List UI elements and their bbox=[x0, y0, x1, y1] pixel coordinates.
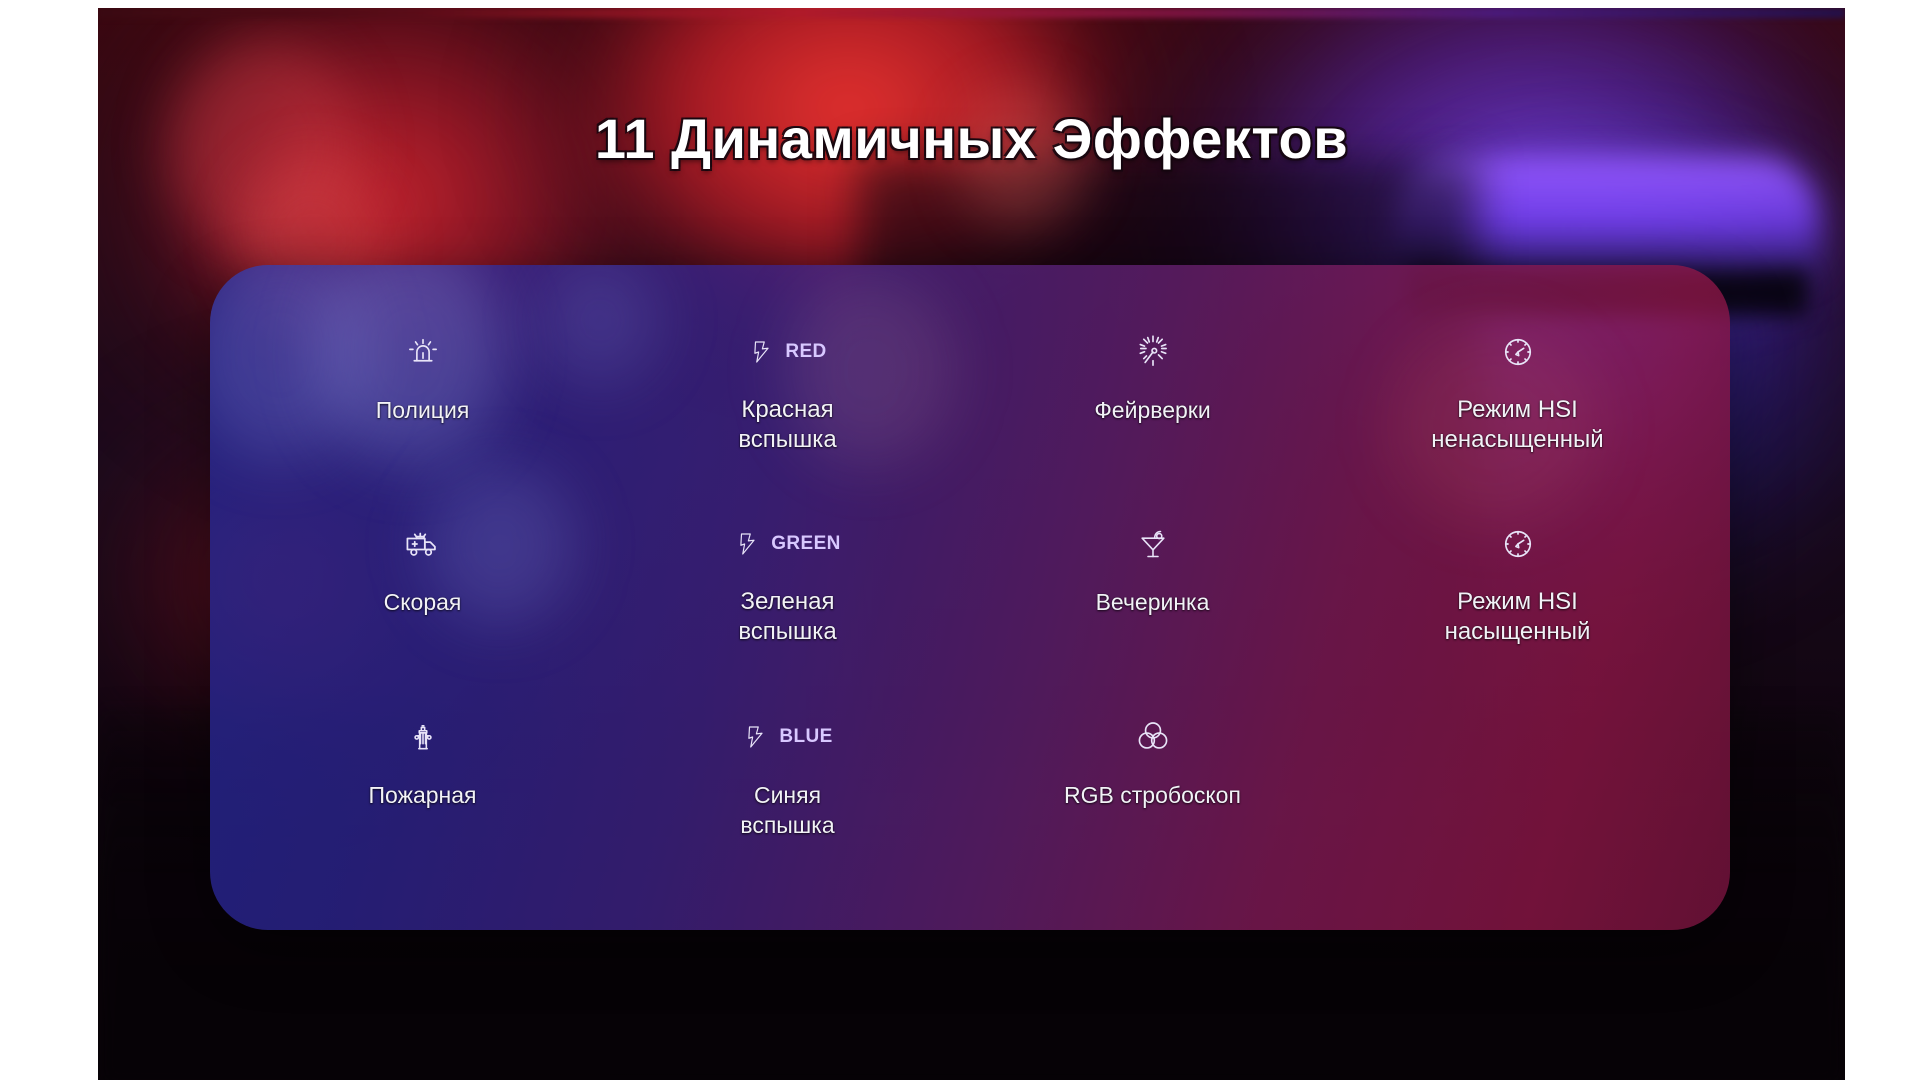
effect-label: Вечеринка bbox=[1096, 587, 1210, 617]
effect-label: Режим HSI насыщенный bbox=[1445, 587, 1591, 647]
effect-item-hsi-unsat[interactable]: Режим HSI ненасыщенный bbox=[1335, 307, 1700, 499]
effect-label: Полиция bbox=[376, 395, 470, 425]
rgb-circles-icon bbox=[1122, 706, 1184, 768]
cocktail-glass-icon bbox=[1122, 513, 1184, 575]
effect-label: Скорая bbox=[384, 587, 462, 617]
flash-color-word: RED bbox=[785, 341, 826, 363]
flash-color-word: GREEN bbox=[771, 533, 841, 555]
background-police-lightbar bbox=[1398, 158, 1818, 278]
ambulance-icon bbox=[392, 513, 454, 575]
effect-item-red-flash[interactable]: REDКрасная вспышка bbox=[605, 307, 970, 499]
effect-item-party[interactable]: Вечеринка bbox=[970, 499, 1335, 691]
lightning-bolt-icon: GREEN bbox=[734, 513, 841, 575]
effect-label: Красная вспышка bbox=[738, 395, 836, 455]
effect-label: Зеленая вспышка bbox=[738, 587, 836, 647]
lightning-bolt-icon: BLUE bbox=[742, 706, 832, 768]
title-container: 11 Динамичных Эффектов bbox=[98, 106, 1845, 171]
slide-root: 11 Динамичных Эффектов ПолицияREDКрасная… bbox=[0, 0, 1920, 1080]
effect-item-fireworks[interactable]: Фейрверки bbox=[970, 307, 1335, 499]
fire-hydrant-icon bbox=[392, 706, 454, 768]
effect-item-hsi-sat[interactable]: Режим HSI насыщенный bbox=[1335, 499, 1700, 691]
siren-beacon-icon bbox=[392, 321, 454, 383]
page-title: 11 Динамичных Эффектов bbox=[595, 106, 1348, 171]
gauge-icon bbox=[1487, 321, 1549, 383]
lightning-bolt-icon: RED bbox=[748, 321, 826, 383]
effect-item-fire[interactable]: Пожарная bbox=[240, 692, 605, 884]
effect-label: Режим HSI ненасыщенный bbox=[1431, 395, 1603, 455]
gauge-icon bbox=[1487, 513, 1549, 575]
effect-label: Синяя вспышка bbox=[740, 780, 834, 840]
effects-card: ПолицияREDКрасная вспышкаФейрверкиРежим … bbox=[210, 265, 1730, 930]
effect-label: Пожарная bbox=[369, 780, 477, 810]
background-top-strip bbox=[98, 8, 1845, 18]
effect-item-ambulance[interactable]: Скорая bbox=[240, 499, 605, 691]
firework-icon bbox=[1122, 321, 1184, 383]
effect-item-rgb-strobe[interactable]: RGB стробоскоп bbox=[970, 692, 1335, 884]
effect-label: Фейрверки bbox=[1094, 395, 1210, 425]
effect-item-green-flash[interactable]: GREENЗеленая вспышка bbox=[605, 499, 970, 691]
flash-color-word: BLUE bbox=[779, 726, 832, 748]
effect-label: RGB стробоскоп bbox=[1064, 780, 1241, 810]
effect-item-blue-flash[interactable]: BLUEСиняя вспышка bbox=[605, 692, 970, 884]
effects-grid: ПолицияREDКрасная вспышкаФейрверкиРежим … bbox=[210, 265, 1730, 930]
effect-item-police[interactable]: Полиция bbox=[240, 307, 605, 499]
